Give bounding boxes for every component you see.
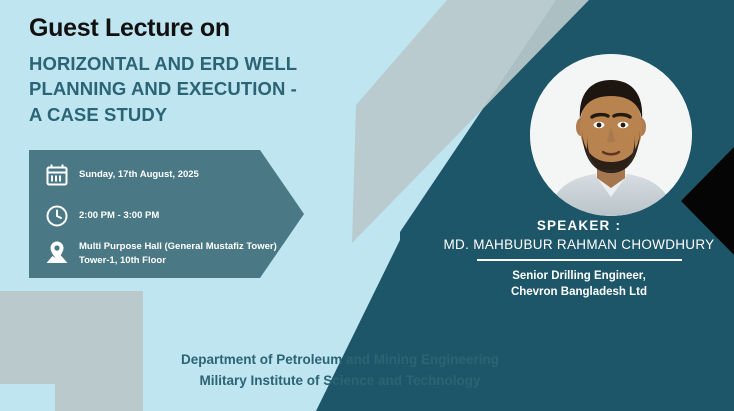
calendar-icon	[45, 163, 69, 187]
venue-line-2: Tower-1, 10th Floor	[79, 255, 166, 266]
footer-department: Department of Petroleum and Mining Engin…	[0, 350, 680, 371]
speaker-name: MD. MAHBUBUR RAHMAN CHOWDHURY	[424, 237, 734, 252]
page-title: Guest Lecture on	[29, 14, 389, 43]
event-date: Sunday, 17th August, 2025	[79, 168, 199, 182]
title-block: Guest Lecture on HORIZONTAL AND ERD WELL…	[29, 14, 389, 127]
detail-row-date: Sunday, 17th August, 2025	[45, 163, 199, 187]
event-details-banner: Sunday, 17th August, 2025 2:00 PM - 3:00…	[29, 150, 304, 278]
speaker-label: SPEAKER :	[424, 218, 734, 233]
detail-row-time: 2:00 PM - 3:00 PM	[45, 204, 159, 228]
speaker-photo	[530, 54, 692, 216]
location-pin-icon	[45, 240, 69, 264]
lecture-subtitle: HORIZONTAL AND ERD WELL PLANNING AND EXE…	[29, 51, 389, 128]
subtitle-line-1: HORIZONTAL AND ERD WELL	[29, 53, 297, 74]
subtitle-line-2: PLANNING AND EXECUTION -	[29, 78, 297, 99]
speaker-role-line-1: Senior Drilling Engineer,	[512, 270, 646, 282]
speaker-divider	[477, 259, 682, 261]
event-venue: Multi Purpose Hall (General Mustafiz Tow…	[79, 240, 277, 268]
event-time: 2:00 PM - 3:00 PM	[79, 209, 159, 223]
organizer-footer: Department of Petroleum and Mining Engin…	[0, 350, 680, 392]
speaker-role-line-2: Chevron Bangladesh Ltd	[511, 286, 647, 298]
detail-row-venue: Multi Purpose Hall (General Mustafiz Tow…	[45, 240, 277, 268]
clock-icon	[45, 204, 69, 228]
subtitle-line-3: A CASE STUDY	[29, 104, 167, 125]
venue-line-1: Multi Purpose Hall (General Mustafiz Tow…	[79, 241, 277, 252]
speaker-role: Senior Drilling Engineer, Chevron Bangla…	[424, 268, 734, 301]
footer-institute: Military Institute of Science and Techno…	[0, 371, 680, 392]
poster-canvas: Guest Lecture on HORIZONTAL AND ERD WELL…	[0, 0, 734, 411]
speaker-info: SPEAKER : MD. MAHBUBUR RAHMAN CHOWDHURY …	[424, 218, 734, 301]
